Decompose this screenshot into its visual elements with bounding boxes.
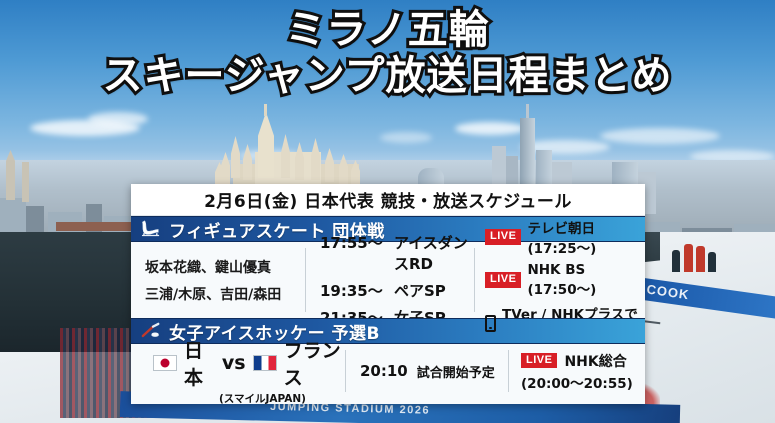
live-badge: LIVE <box>485 272 521 288</box>
cloud <box>455 122 525 135</box>
broadcast-window: (20:00〜20:55) <box>521 372 645 392</box>
figure-skating-row: 坂本花織、鍵山優真 三浦/木原、吉田/森田 17:55〜 アイスダンスRD 19… <box>131 242 645 318</box>
team-home: 日本 <box>184 336 215 390</box>
broadcast-channel: テレビ朝日(17:25〜) <box>527 217 645 257</box>
spectators <box>672 242 728 276</box>
figure-skating-broadcasts: LIVE テレビ朝日(17:25〜) LIVE NHK BS (17:50〜) … <box>475 242 645 318</box>
page-title: ミラノ五輪 スキージャンプ放送日程まとめ <box>0 8 775 100</box>
france-flag-icon <box>253 355 277 371</box>
ice-skate-icon <box>139 219 163 239</box>
live-badge: LIVE <box>521 353 557 369</box>
broadcast-row: LIVE テレビ朝日(17:25〜) <box>485 217 645 257</box>
match-time: 20:10 <box>360 362 408 380</box>
ice-hockey-row: 日本 vs フランス (スマイルJAPAN) 20:10 試合開始予定 LIVE… <box>131 344 645 398</box>
smartphone-icon <box>485 315 496 332</box>
schedule-card: 2月6日(金) 日本代表 競技・放送スケジュール フィギュアスケート 団体戦 坂… <box>131 184 645 404</box>
event-row: 17:55〜 アイスダンスRD <box>320 232 474 274</box>
event-time: 17:55〜 <box>320 232 380 274</box>
vs-label: vs <box>222 352 246 374</box>
broadcast-channel: NHK総合 <box>564 351 626 371</box>
figure-skating-events: 17:55〜 アイスダンスRD 19:35〜 ペアSP 21:35〜 女子SP <box>306 242 474 318</box>
cloud <box>88 112 148 126</box>
live-badge: LIVE <box>485 229 521 245</box>
card-header: 2月6日(金) 日本代表 競技・放送スケジュール <box>131 184 645 216</box>
match-time-note: 試合開始予定 <box>417 362 495 381</box>
event-name: ペアSP <box>394 280 446 301</box>
title-line-2: スキージャンプ放送日程まとめ <box>0 52 775 100</box>
athlete-line-1: 坂本花織、鍵山優真 <box>145 257 305 277</box>
title-line-1: ミラノ五輪 <box>0 8 775 52</box>
team-home-nickname: (スマイルJAPAN) <box>153 391 345 406</box>
event-row: 19:35〜 ペアSP <box>320 280 474 301</box>
event-name: アイスダンスRD <box>394 232 474 274</box>
hockey-time: 20:10 試合開始予定 <box>346 344 508 398</box>
event-time: 19:35〜 <box>320 280 380 301</box>
hockey-broadcast: LIVE NHK総合 (20:00〜20:55) <box>509 344 645 398</box>
figure-skating-athletes: 坂本花織、鍵山優真 三浦/木原、吉田/森田 <box>131 242 305 318</box>
cloud <box>380 132 432 143</box>
athlete-line-2: 三浦/木原、吉田/森田 <box>145 284 305 304</box>
broadcast-channel: NHK BS (17:50〜) <box>527 262 645 298</box>
team-away: フランス <box>284 336 345 390</box>
broadcast-row: LIVE NHK BS (17:50〜) <box>485 262 645 298</box>
hockey-matchup: 日本 vs フランス (スマイルJAPAN) <box>131 344 345 398</box>
bell-tower <box>22 162 29 202</box>
japan-flag-icon <box>153 355 177 371</box>
cloud <box>600 128 720 144</box>
